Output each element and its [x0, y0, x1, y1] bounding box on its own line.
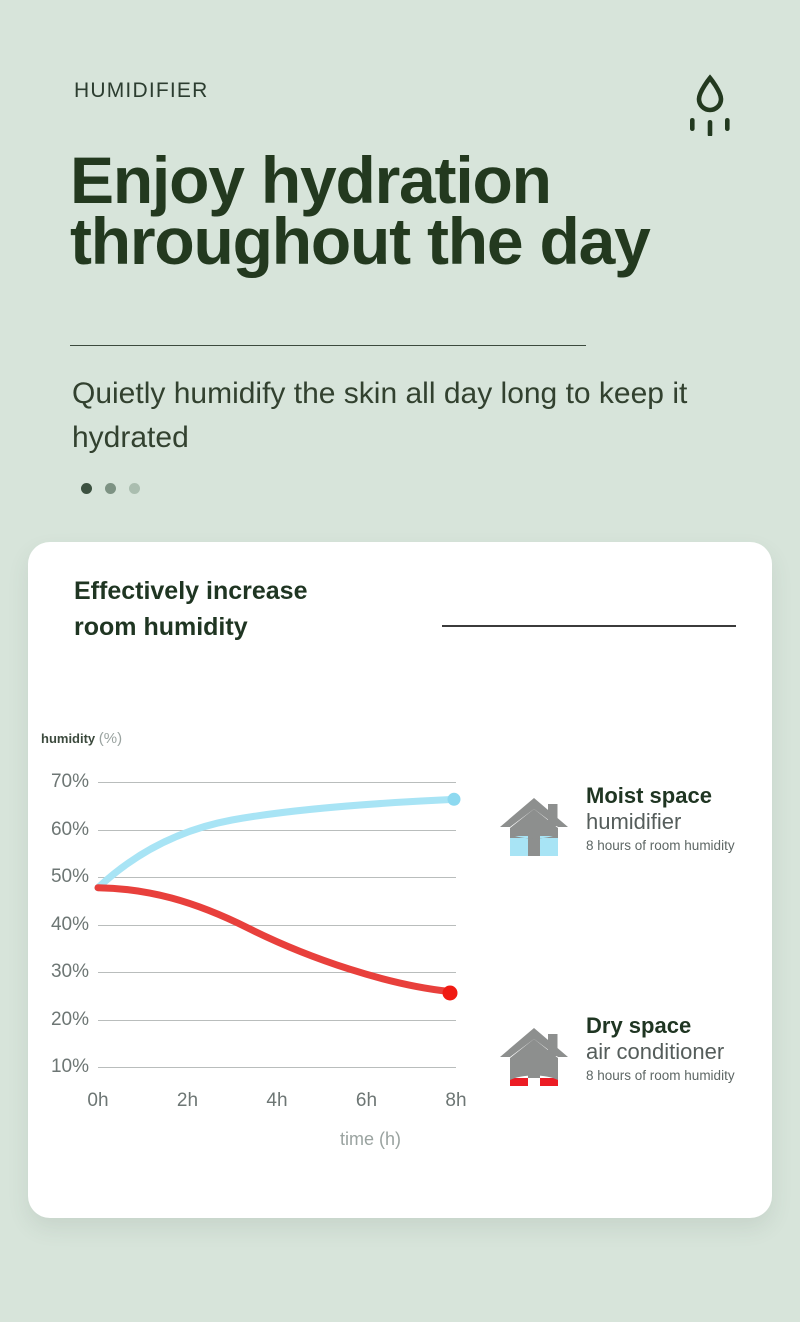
y-axis-title-label: humidity [41, 731, 95, 746]
y-tick-label-50: 50% [51, 866, 89, 888]
chart-plot-area: 70% 60% 50% 40% 30% 20% 10% 0h 2h 4 [98, 782, 456, 1078]
x-tick-label-6h: 6h [356, 1090, 377, 1112]
legend-text-dry-space: Dry space air conditioner 8 hours of roo… [586, 1012, 786, 1086]
legend-title-dry-space: Dry space [586, 1012, 786, 1039]
legend-note-moist-space: 8 hours of room humidity [586, 836, 786, 856]
legend-item-moist-space[interactable]: Moist space humidifier 8 hours of room h… [474, 782, 774, 872]
carousel-dot-1[interactable] [81, 483, 92, 494]
carousel-dot-3[interactable] [129, 483, 140, 494]
x-tick-label-4h: 4h [266, 1090, 287, 1112]
y-axis-title-unit: (%) [99, 730, 122, 747]
carousel-dot-2[interactable] [105, 483, 116, 494]
x-tick-label-8h: 8h [445, 1090, 466, 1112]
hero-subtitle: Quietly humidify the skin all day long t… [72, 372, 692, 461]
y-tick-label-20: 20% [51, 1009, 89, 1031]
humidity-chart-card: Effectively increase room humidity humid… [28, 542, 772, 1218]
hero-section: HUMIDIFIER Enjoy hydration throughout th… [0, 0, 800, 530]
water-drop-mist-icon [684, 74, 736, 136]
humidity-line-chart: humidity (%) 70% 60% 50% 40% 30% 20% [28, 542, 772, 1218]
legend-sub-moist-space: humidifier [586, 809, 786, 836]
y-tick-label-40: 40% [51, 914, 89, 936]
house-moist-icon [498, 794, 570, 858]
y-axis-title: humidity (%) [41, 730, 122, 747]
carousel-pagination[interactable] [81, 483, 140, 494]
legend-item-dry-space[interactable]: Dry space air conditioner 8 hours of roo… [474, 1012, 774, 1102]
y-tick-label-10: 10% [51, 1056, 89, 1078]
series-line-dry-space [98, 888, 450, 992]
page-title: Enjoy hydration throughout the day [70, 150, 770, 273]
legend-note-dry-space: 8 hours of room humidity [586, 1066, 786, 1086]
hero-divider [70, 345, 586, 346]
house-dry-icon [498, 1024, 570, 1088]
hero-eyebrow: HUMIDIFIER [74, 79, 209, 103]
y-tick-label-30: 30% [51, 961, 89, 983]
x-tick-label-0h: 0h [87, 1090, 108, 1112]
y-tick-label-60: 60% [51, 819, 89, 841]
legend-title-moist-space: Moist space [586, 782, 786, 809]
series-endpoint-dry-space [443, 986, 458, 1001]
legend-text-moist-space: Moist space humidifier 8 hours of room h… [586, 782, 786, 856]
series-line-moist-space [98, 799, 456, 887]
x-axis-title-label: time [340, 1129, 374, 1149]
y-tick-label-70: 70% [51, 771, 89, 793]
x-tick-label-2h: 2h [177, 1090, 198, 1112]
x-axis-title: time (h) [340, 1129, 401, 1150]
x-axis-title-unit: (h) [379, 1129, 401, 1149]
series-endpoint-moist-space [448, 793, 461, 806]
hero-title-line-2: throughout the day [70, 211, 770, 272]
legend-sub-dry-space: air conditioner [586, 1039, 786, 1066]
